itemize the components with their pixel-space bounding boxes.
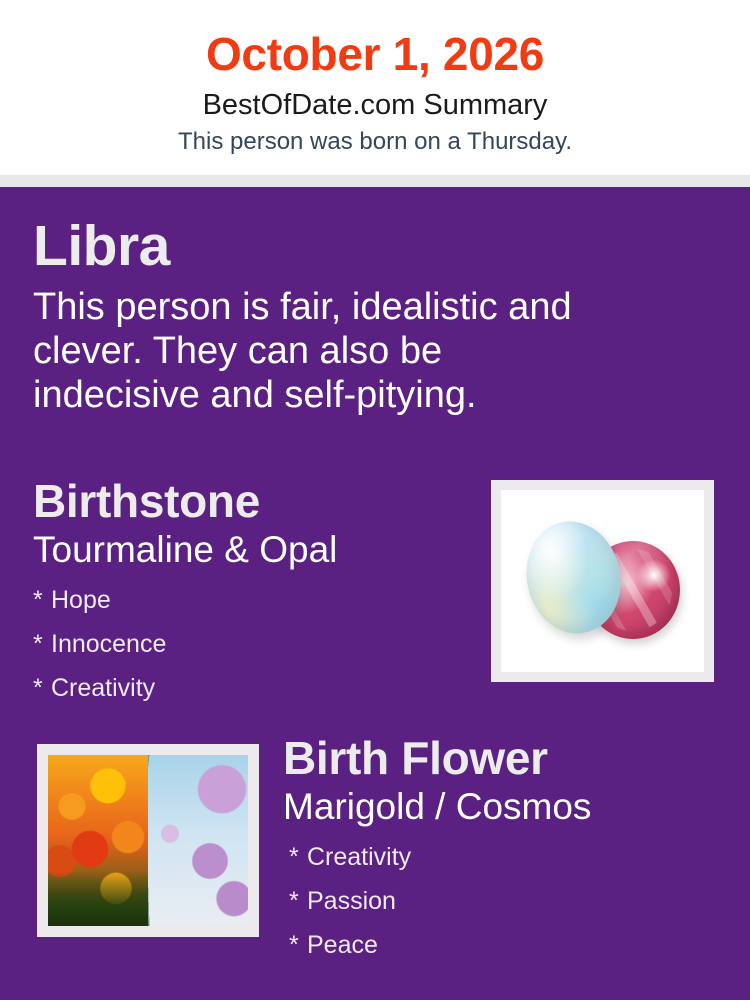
born-on-weekday-text: This person was born on a Thursday. [0, 122, 750, 156]
list-item: *Peace [289, 923, 733, 967]
header-divider [0, 175, 750, 187]
zodiac-sign-name: Libra [33, 215, 673, 277]
birthstone-image-frame [491, 480, 714, 682]
birth-flower-image [48, 755, 248, 926]
list-item-label: Creativity [51, 674, 155, 702]
summary-page: October 1, 2026 BestOfDate.com Summary T… [0, 0, 750, 1000]
list-item: *Creativity [289, 835, 733, 879]
birth-flower-trait-list: *Creativity *Passion *Peace [283, 829, 733, 967]
birth-flower-image-frame [37, 744, 259, 937]
asterisk-bullet-icon: * [289, 923, 307, 967]
birthstone-heading: Birthstone [33, 475, 463, 527]
asterisk-bullet-icon: * [289, 879, 307, 923]
birth-flower-heading: Birth Flower [283, 732, 733, 784]
list-item-label: Innocence [51, 630, 166, 658]
list-item-label: Hope [51, 586, 111, 614]
list-item-label: Passion [307, 887, 396, 915]
asterisk-bullet-icon: * [33, 622, 51, 666]
list-item: *Passion [289, 879, 733, 923]
birthstone-names: Tourmaline & Opal [33, 527, 463, 572]
birthstone-image [501, 490, 704, 672]
site-summary-subtitle: BestOfDate.com Summary [0, 81, 750, 122]
birthstone-trait-list: *Hope *Innocence *Creativity [33, 572, 463, 710]
birth-flower-names: Marigold / Cosmos [283, 784, 733, 829]
birthstone-section: Birthstone Tourmaline & Opal *Hope *Inno… [33, 475, 463, 710]
page-header: October 1, 2026 BestOfDate.com Summary T… [0, 0, 750, 175]
list-item-label: Creativity [307, 843, 411, 871]
asterisk-bullet-icon: * [33, 666, 51, 710]
marigold-flower-icon [48, 755, 148, 926]
cosmos-flower-icon [148, 755, 248, 926]
asterisk-bullet-icon: * [289, 835, 307, 879]
details-panel: Libra This person is fair, idealistic an… [0, 187, 750, 1000]
asterisk-bullet-icon: * [33, 578, 51, 622]
page-title: October 1, 2026 [0, 0, 750, 81]
list-item-label: Peace [307, 931, 378, 959]
birth-flower-section: Birth Flower Marigold / Cosmos *Creativi… [283, 732, 733, 967]
zodiac-section: Libra This person is fair, idealistic an… [33, 215, 673, 417]
list-item: *Hope [33, 578, 463, 622]
zodiac-description: This person is fair, idealistic and clev… [33, 277, 613, 417]
list-item: *Innocence [33, 622, 463, 666]
list-item: *Creativity [33, 666, 463, 710]
